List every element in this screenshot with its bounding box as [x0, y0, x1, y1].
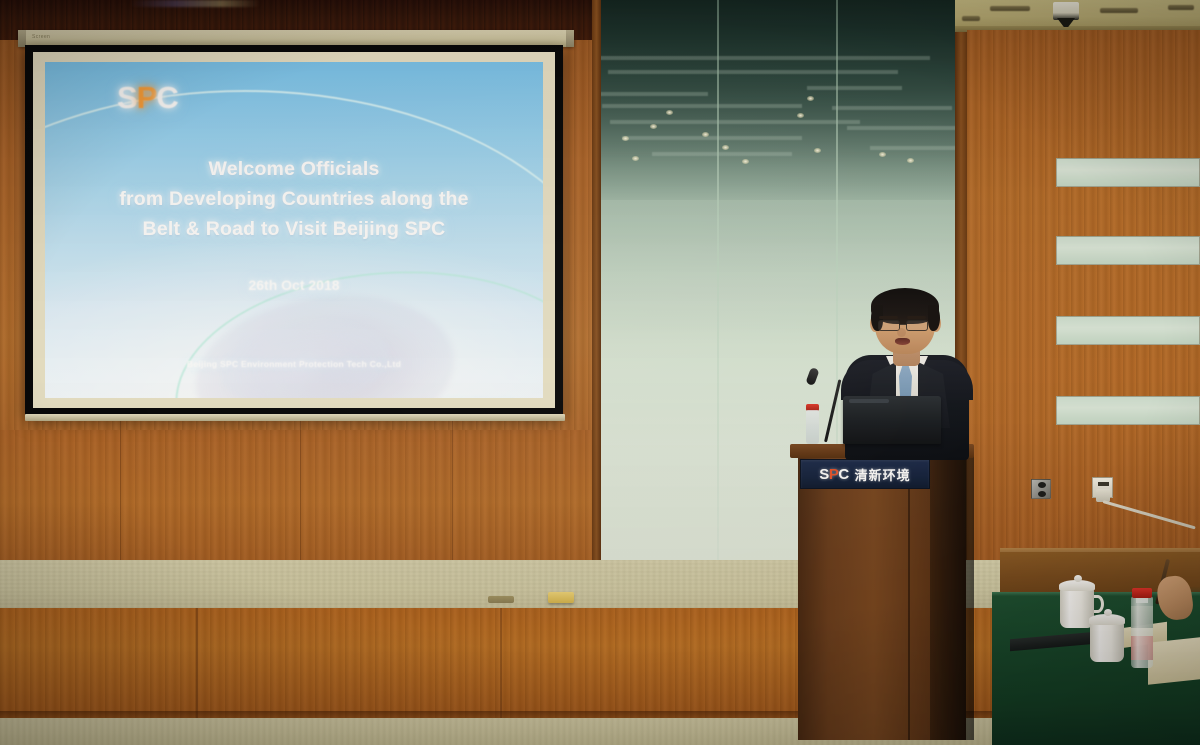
wall-outlet-dark[interactable]: [1031, 479, 1051, 499]
reflected-ceiling-strip: [832, 106, 952, 110]
spc-logo-s: S: [117, 80, 137, 115]
screen-housing-label: Screen: [32, 34, 50, 40]
teacup-body: [1090, 622, 1124, 662]
teacup-lid-knob: [1074, 575, 1082, 582]
reflected-downlight: [666, 110, 673, 115]
reflected-downlight: [807, 96, 814, 101]
reflected-downlight: [879, 152, 886, 157]
table-water-bottle: [1131, 596, 1153, 668]
wall-glass-slat: [1056, 158, 1200, 187]
speaker-eyebrow-left: [879, 316, 898, 319]
slide-title-line-2: from Developing Countries along the: [45, 184, 543, 214]
laptop-hinge: [849, 399, 889, 403]
reflected-ceiling-strip: [622, 136, 802, 140]
reflected-downlight: [722, 145, 729, 150]
presentation-slide: SPC Welcome Officials from Developing Co…: [45, 62, 543, 398]
glass-mullion: [717, 0, 719, 560]
spc-logo-p: P: [137, 80, 157, 115]
laptop-icon[interactable]: [843, 396, 941, 444]
reflected-ceiling-strip: [608, 70, 898, 74]
reflected-ceiling-strip: [847, 126, 957, 130]
teacup-lid-knob: [1104, 609, 1112, 616]
slide-date: 26th Oct 2018: [45, 277, 543, 293]
reflected-ceiling-strip: [870, 146, 960, 150]
stage-panel-seam: [196, 608, 198, 718]
podium-logo-c: C: [838, 466, 848, 483]
screen-housing-endcap: [566, 30, 574, 47]
podium-name-plate: SPC 清新环境: [800, 459, 930, 489]
wall-glass-slat: [1056, 396, 1200, 425]
projection-screen: SPC Welcome Officials from Developing Co…: [25, 45, 563, 415]
reflected-ceiling-strip: [602, 104, 802, 108]
spc-logo: SPC: [117, 80, 178, 116]
stage-panel-seam: [500, 608, 502, 718]
podium-water-bottle: [806, 410, 819, 444]
ceiling-vent: [962, 16, 980, 21]
slide-title: Welcome Officials from Developing Countr…: [45, 154, 543, 244]
glass-frame-left: [592, 0, 601, 560]
stage-small-object: [488, 596, 514, 603]
reflected-downlight: [702, 132, 709, 137]
reflected-ceiling-strip: [600, 56, 930, 60]
screen-surface: SPC Welcome Officials from Developing Co…: [33, 52, 555, 408]
reflected-downlight: [814, 148, 821, 153]
reflected-ceiling-strip: [610, 120, 860, 124]
speaker-nose: [897, 328, 906, 337]
slide-title-line-1: Welcome Officials: [45, 154, 543, 184]
podium-logo-s: S: [819, 466, 829, 483]
glasses-lens-right: [906, 320, 928, 331]
speaker-mouth: [895, 338, 910, 345]
wall-light-reflection: [130, 0, 260, 7]
ceiling-smoke-detector-icon: [1053, 2, 1079, 20]
reflected-ceiling-strip: [652, 152, 792, 156]
glasses-bridge: [899, 324, 907, 325]
reflected-downlight: [650, 124, 657, 129]
reflected-downlight: [797, 113, 804, 118]
ceiling-reflection: [592, 0, 964, 200]
podium-panel-seam: [908, 452, 910, 740]
ceiling-vent: [1100, 8, 1138, 13]
speaker-hair-side-right: [928, 305, 940, 331]
podium-shadow: [930, 452, 974, 740]
speaker-eyebrow-right: [907, 316, 926, 319]
ceiling-vent: [990, 6, 1030, 11]
podium-chinese-text: 清新环境: [855, 465, 911, 484]
ceiling-vent: [1168, 5, 1194, 10]
stage-yellow-card: [548, 592, 574, 603]
table-notepad: [1148, 637, 1200, 684]
reflected-downlight: [632, 156, 639, 161]
reflected-downlight: [907, 158, 914, 163]
conference-room-photo: Screen SPC Welcome Officials from Develo…: [0, 0, 1200, 745]
slide-title-line-3: Belt & Road to Visit Beijing SPC: [45, 214, 543, 244]
reflected-downlight: [742, 159, 749, 164]
wall-glass-slat: [1056, 236, 1200, 265]
wall-glass-slat: [1056, 316, 1200, 345]
slide-company-name: Beijing SPC Environment Protection Tech …: [45, 359, 543, 369]
reflected-ceiling-strip: [807, 86, 902, 90]
reflected-ceiling-strip: [598, 92, 708, 96]
spc-logo-c: C: [156, 80, 177, 115]
reflected-downlight: [622, 136, 629, 141]
podium-logo-text: SPC: [819, 466, 848, 483]
right-wood-wall: [967, 30, 1200, 590]
bottle-cap: [1132, 588, 1152, 598]
projector-screen-weight-bar: [25, 414, 565, 421]
podium-logo-p: P: [829, 466, 839, 483]
